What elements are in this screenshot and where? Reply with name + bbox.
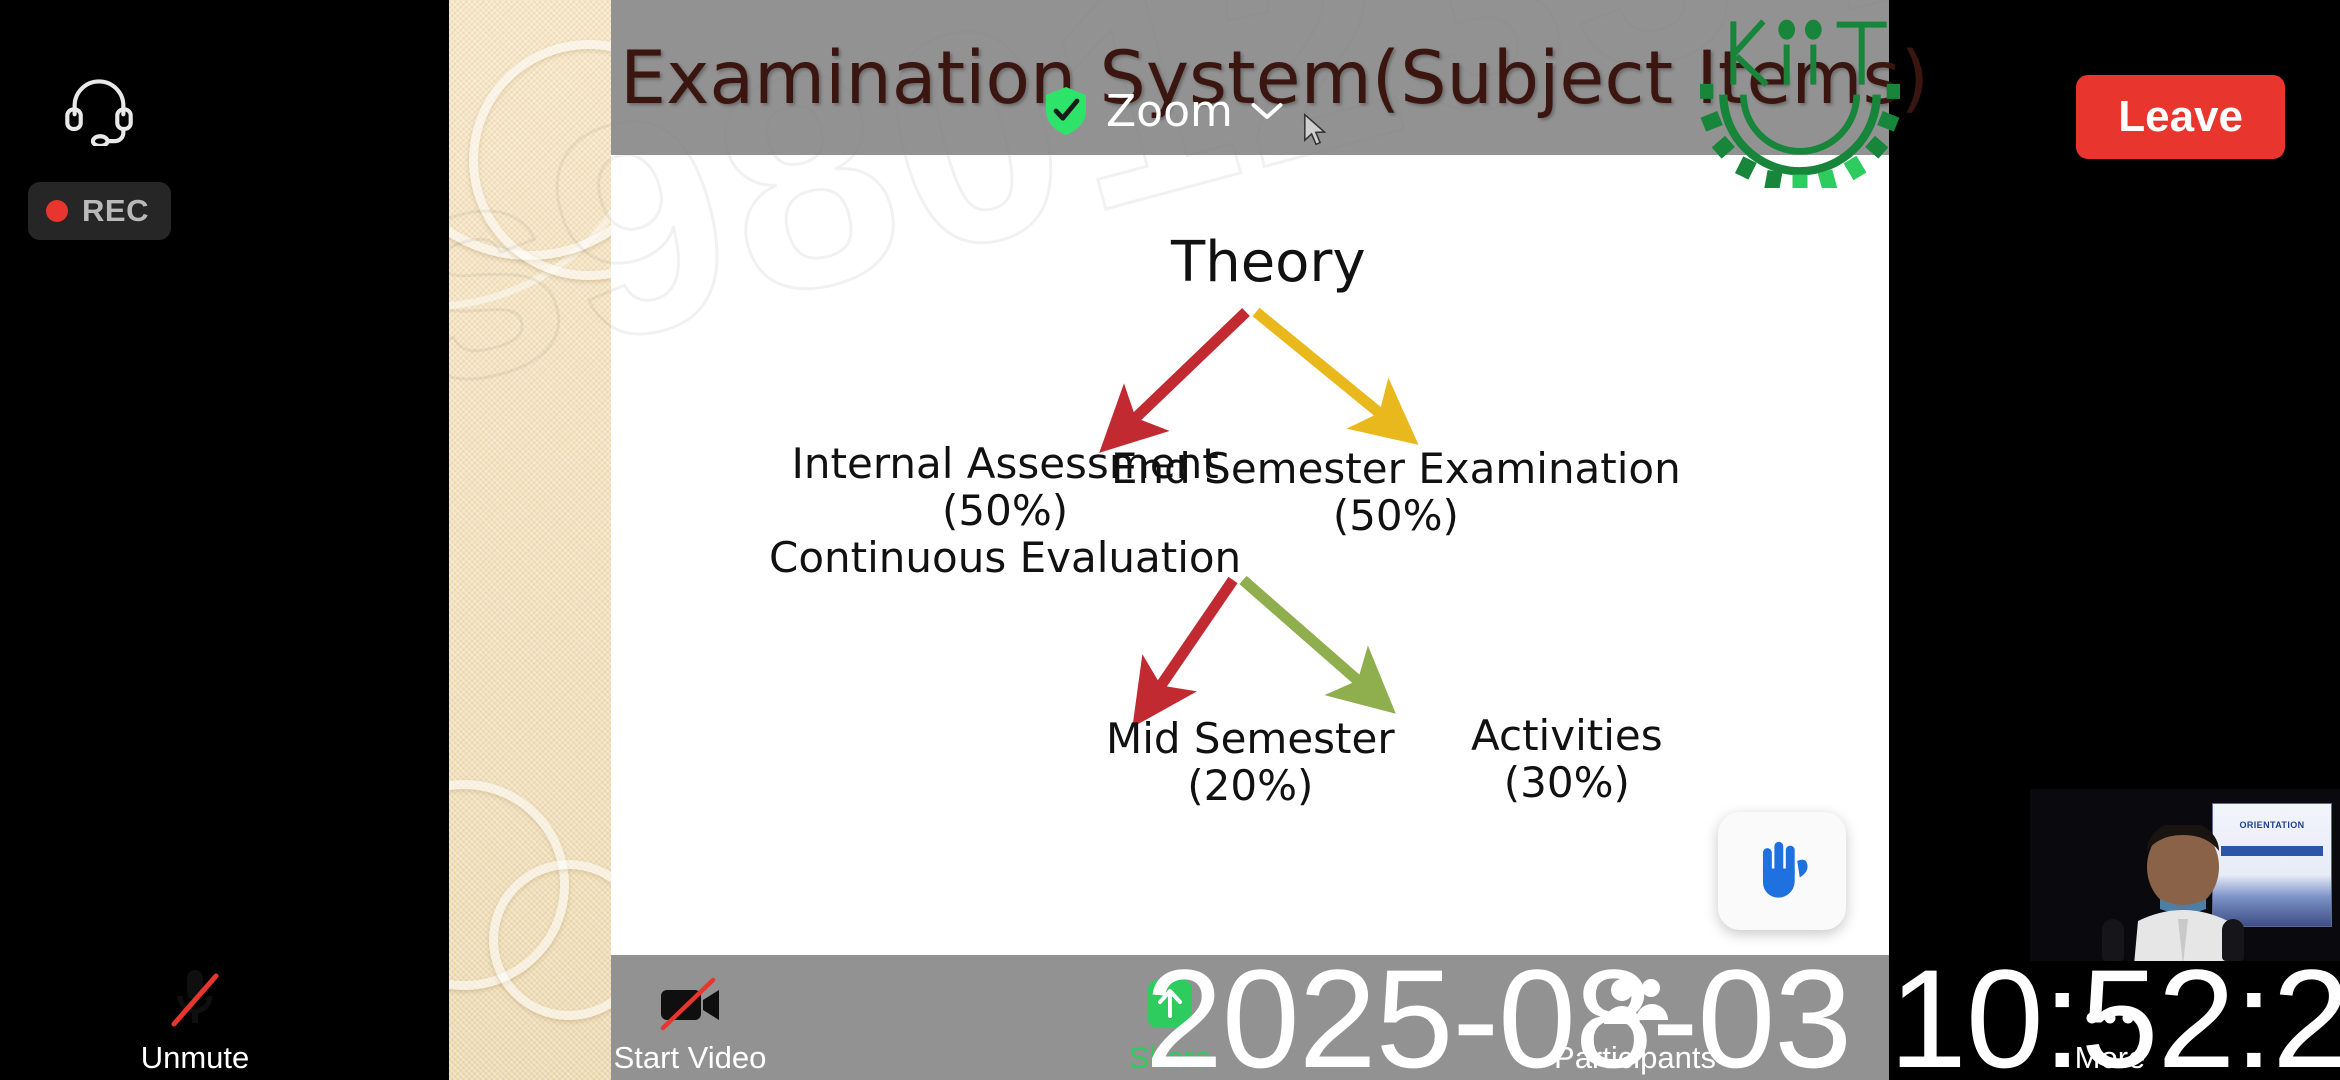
- diagram-node-mid-semester: Mid Semester (20%): [1106, 715, 1395, 809]
- examination-system-diagram: Theory Internal Assessment (50%) Continu…: [611, 0, 1889, 1080]
- zoom-app-label: Zoom: [1106, 86, 1233, 137]
- participants-label: Participants: [1520, 1040, 1750, 1076]
- headset-icon[interactable]: [60, 68, 138, 146]
- record-dot-icon: [46, 200, 68, 222]
- unmute-label: Unmute: [80, 1040, 310, 1076]
- participants-button[interactable]: Participants: [1520, 968, 1750, 1076]
- raise-hand-button[interactable]: [1718, 812, 1846, 930]
- slide-canvas: as9801233442: [611, 0, 1889, 1080]
- participants-icon: [1520, 968, 1750, 1034]
- start-video-label: Start Video: [575, 1040, 805, 1076]
- share-screen-button[interactable]: Share: [1055, 968, 1285, 1076]
- more-button[interactable]: More: [1995, 968, 2225, 1076]
- leave-button[interactable]: Leave: [2076, 75, 2285, 159]
- start-video-button[interactable]: Start Video: [575, 968, 805, 1076]
- slide-decorative-sidebar: [449, 0, 611, 1080]
- zoom-meeting-window: REC as9801233442: [0, 0, 2340, 1080]
- unmute-button[interactable]: Unmute: [80, 968, 310, 1076]
- kiit-logo: [1700, 8, 1900, 188]
- shared-screen-content: as9801233442: [449, 0, 1889, 1080]
- microphone-left: [2102, 919, 2124, 961]
- more-label: More: [1995, 1040, 2225, 1076]
- zoom-status-chip[interactable]: Zoom: [1042, 85, 1285, 137]
- mouse-pointer-icon: [1302, 113, 1328, 147]
- shield-check-icon: [1042, 85, 1090, 137]
- microphone-muted-icon: [80, 968, 310, 1034]
- chevron-down-icon[interactable]: [1249, 100, 1285, 122]
- diagram-node-end-semester-examination: End Semester Examination (50%): [1111, 445, 1681, 539]
- raised-hand-icon: [1751, 838, 1813, 904]
- share-label: Share: [1055, 1040, 1285, 1076]
- self-view-thumbnail[interactable]: ORIENTATION: [2030, 789, 2340, 961]
- microphone-right: [2222, 919, 2244, 961]
- recording-label: REC: [82, 193, 149, 229]
- diagram-node-activities: Activities (30%): [1471, 712, 1663, 806]
- ellipsis-icon: [1995, 968, 2225, 1034]
- share-screen-icon: [1055, 968, 1285, 1034]
- diagram-node-theory: Theory: [1171, 232, 1366, 295]
- recording-indicator: REC: [28, 182, 171, 240]
- camera-off-icon: [575, 968, 805, 1034]
